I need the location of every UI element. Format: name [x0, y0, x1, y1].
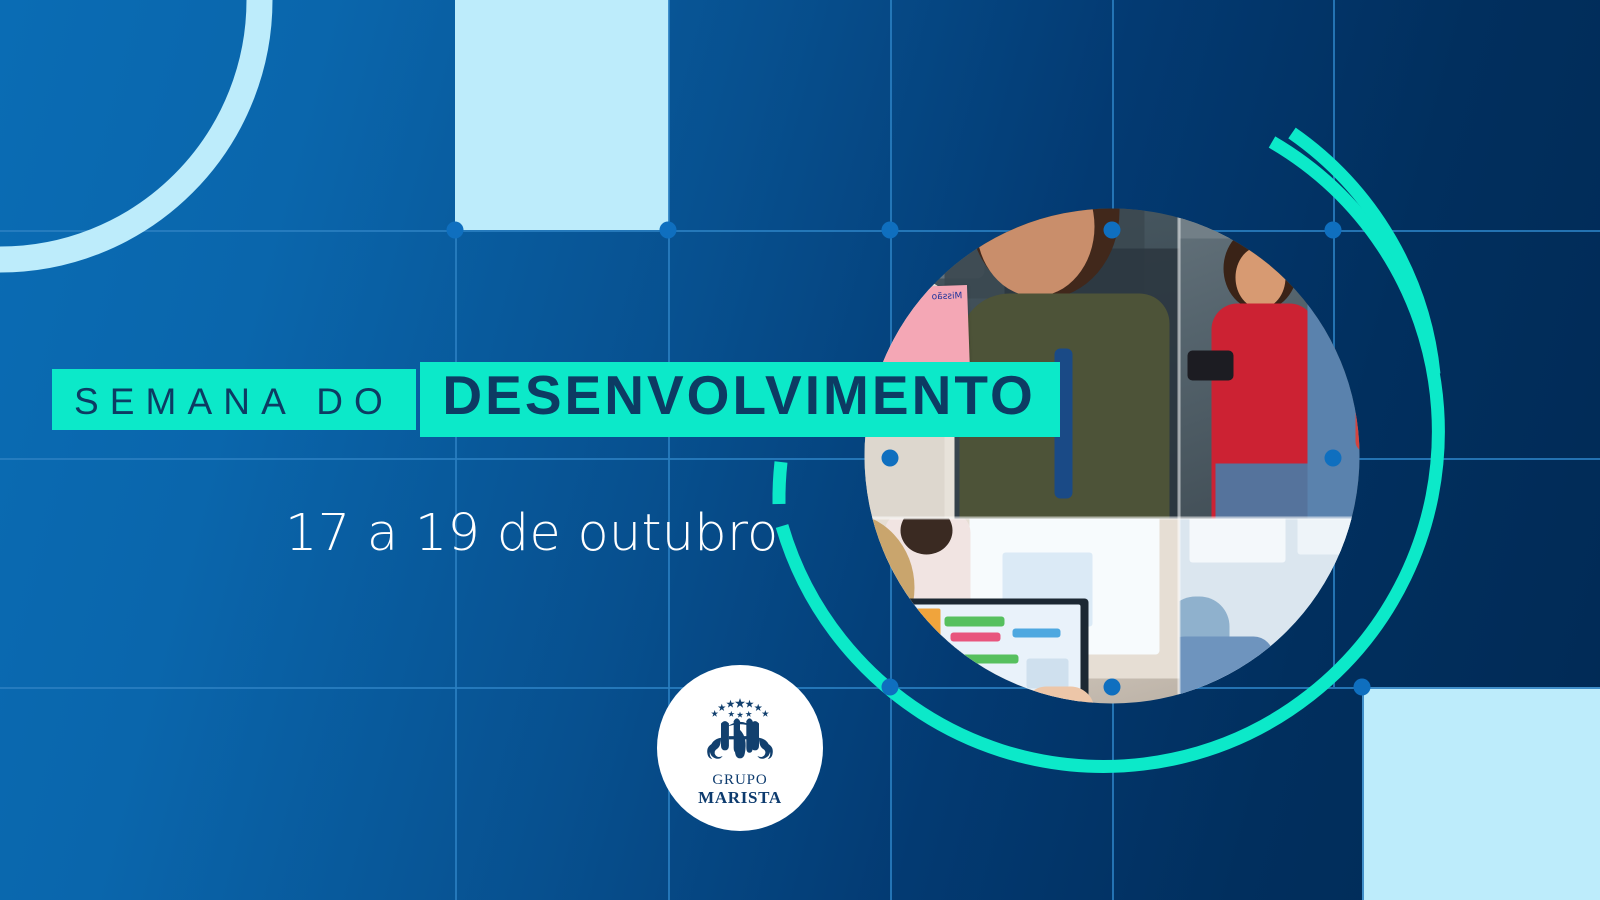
grid-dot [1325, 222, 1342, 239]
grid-dot [1325, 450, 1342, 467]
headline-band-bottom: DESENVOLVIMENTO [420, 362, 1059, 437]
grid-dot [447, 222, 464, 239]
grupo-marista-logo: GRUPO MARISTA [657, 665, 823, 831]
grid-dot [1354, 679, 1371, 696]
photo-collage: Muito bom Pesquisa Missão Simples e clar… [865, 209, 1360, 704]
grid-line-vertical-1 [455, 230, 457, 900]
photo-hall [1180, 209, 1360, 519]
logo-line-marista: MARISTA [698, 789, 782, 807]
headline-line-2: DESENVOLVIMENTO [442, 368, 1035, 423]
photo-classroom [865, 519, 1180, 704]
event-date: 17 a 19 de outubro [285, 508, 779, 559]
collage-seam-horizontal [865, 517, 1360, 520]
photo-surgery [1180, 519, 1360, 704]
grid-dot [882, 222, 899, 239]
pale-rectangle-top [455, 0, 669, 230]
collage-seam-vertical [1178, 209, 1181, 704]
grid-dot [660, 222, 677, 239]
grid-dot [882, 450, 899, 467]
grid-dot [1104, 679, 1121, 696]
inner-pale-ring [0, 0, 273, 273]
headline-band-top: SEMANA DO [52, 369, 416, 430]
headline-block: SEMANA DO DESENVOLVIMENTO [52, 362, 1060, 437]
marista-monogram-icon [692, 695, 788, 771]
logo-wordmark: GRUPO MARISTA [698, 773, 782, 807]
logo-line-grupo: GRUPO [698, 773, 782, 789]
grid-dot [1104, 222, 1121, 239]
poster-canvas: Muito bom Pesquisa Missão Simples e clar… [0, 0, 1600, 900]
headline-line-1: SEMANA DO [74, 383, 394, 420]
grid-dot [882, 679, 899, 696]
